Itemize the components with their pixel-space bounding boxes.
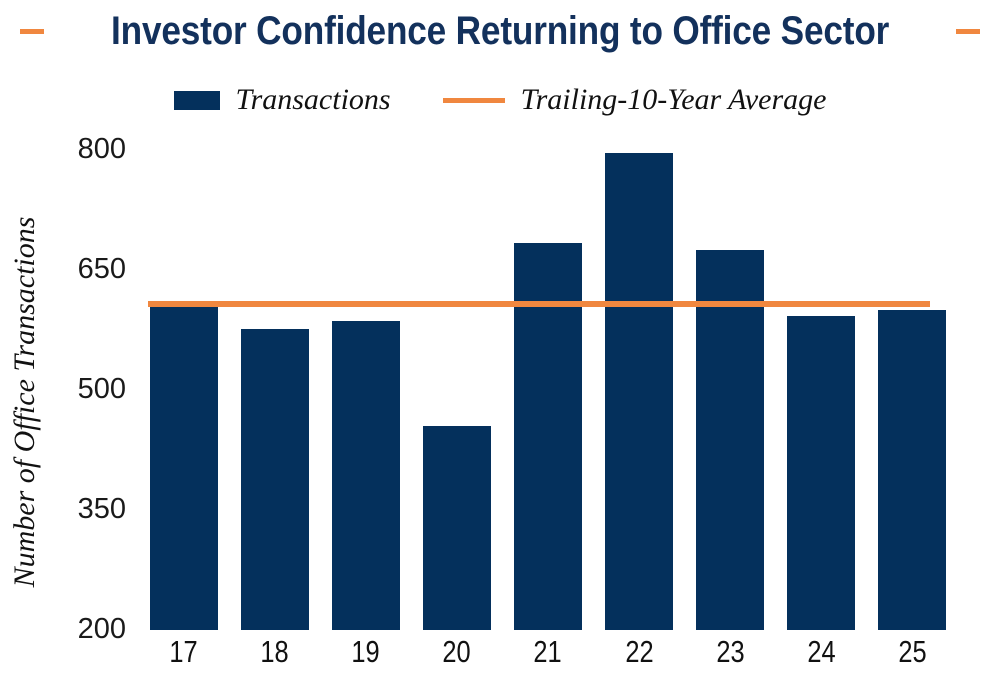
x-tick-label-22: 22	[602, 636, 677, 667]
y-axis-tick-labels: 200350500650800	[44, 0, 126, 675]
bar-17	[150, 304, 218, 630]
bar-22	[605, 153, 673, 630]
plot-area	[138, 150, 958, 630]
x-tick-label-17: 17	[146, 636, 221, 667]
plot-wrapper: Number of Office Transactions 2003505006…	[0, 0, 1000, 675]
y-axis-title: Number of Office Transactions	[8, 162, 42, 642]
x-tick-label-18: 18	[237, 636, 312, 667]
x-tick-label-24: 24	[784, 636, 859, 667]
y-tick-label-800: 800	[48, 135, 126, 164]
bar-18	[241, 329, 309, 630]
bar-23	[696, 250, 764, 630]
trailing-average-line	[148, 301, 930, 307]
bar-20	[423, 426, 491, 630]
y-tick-label-200: 200	[48, 615, 126, 644]
x-tick-label-19: 19	[328, 636, 403, 667]
bar-25	[878, 310, 946, 630]
x-axis-tick-labels: 171819202122232425	[138, 636, 958, 676]
bars-layer	[138, 150, 958, 630]
x-tick-label-20: 20	[420, 636, 495, 667]
y-tick-label-650: 650	[48, 255, 126, 284]
bar-24	[787, 316, 855, 630]
x-tick-label-25: 25	[875, 636, 950, 667]
x-tick-label-21: 21	[511, 636, 586, 667]
y-tick-label-350: 350	[48, 495, 126, 524]
bar-19	[332, 321, 400, 630]
x-tick-label-23: 23	[693, 636, 768, 667]
y-tick-label-500: 500	[48, 375, 126, 404]
